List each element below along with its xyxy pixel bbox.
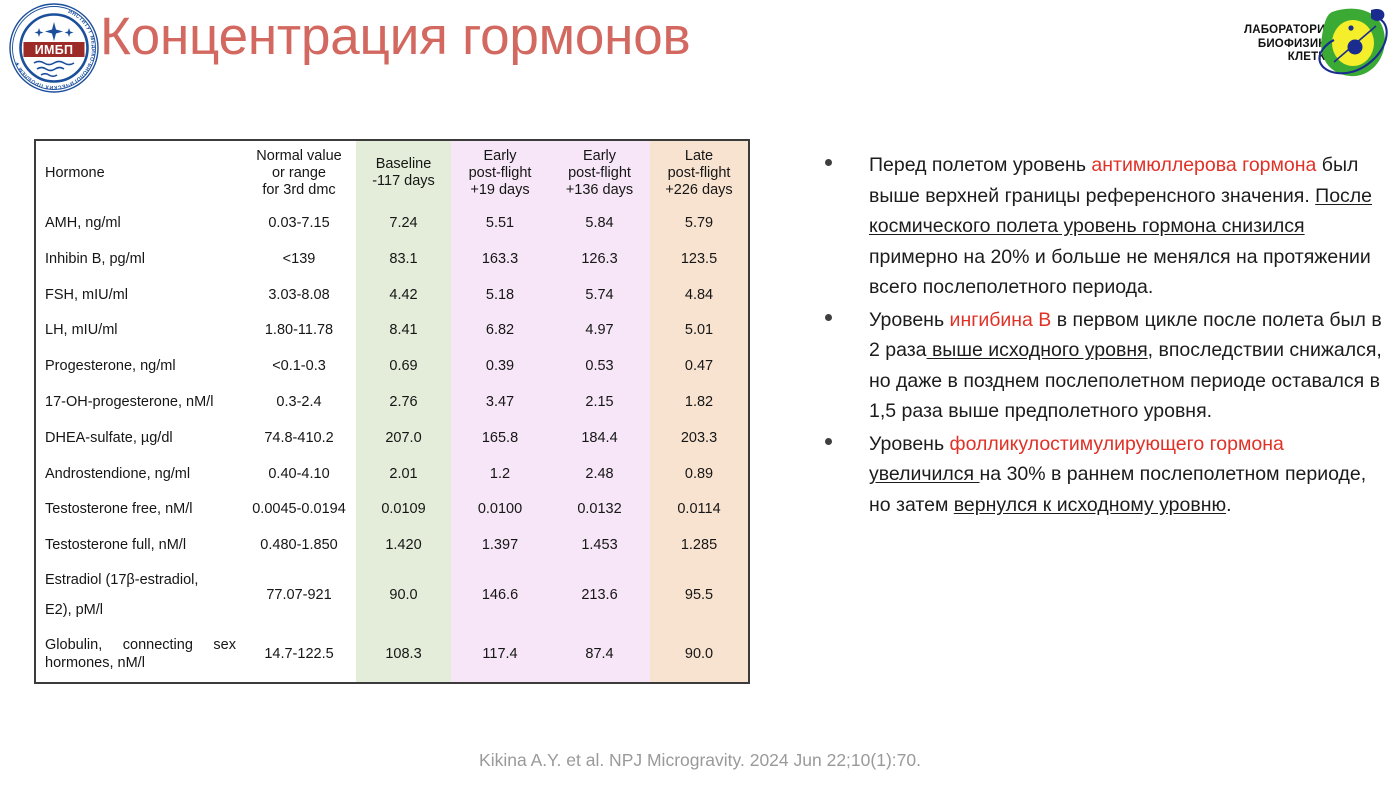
- hormone-name-line1: Estradiol (17β-estradiol,: [45, 565, 236, 595]
- cell-late-226: 123.5: [650, 241, 748, 277]
- bullet-text-segment: антимюллерова гормона: [1091, 154, 1316, 176]
- table-row: Inhibin B, pg/ml<13983.1163.3126.3123.5: [36, 241, 748, 277]
- hormone-name-label: Inhibin B, pg/ml: [45, 251, 145, 267]
- hormone-name-label: 17-OH-progesterone, nM/l: [45, 394, 213, 410]
- cell-early-19: 3.47: [451, 384, 549, 420]
- bullet-text-segment: увеличился: [869, 463, 980, 485]
- cell-early-136: 87.4: [549, 627, 650, 682]
- cell-normal-value: 14.7-122.5: [242, 627, 356, 682]
- hormone-name-label: FSH, mIU/ml: [45, 287, 128, 303]
- cell-hormone-name: FSH, mIU/ml: [36, 277, 242, 313]
- cell-late-226: 0.89: [650, 456, 748, 492]
- hormone-name-label: Testosterone full, nM/l: [45, 537, 186, 553]
- bullet-item: Перед полетом уровень антимюллерова горм…: [812, 150, 1390, 303]
- cell-baseline: 2.01: [356, 456, 451, 492]
- cell-baseline: 7.24: [356, 205, 451, 241]
- cell-early-19: 5.51: [451, 205, 549, 241]
- bullet-item: Уровень ингибина В в первом цикле после …: [812, 305, 1390, 427]
- cell-late-226: 0.0114: [650, 492, 748, 528]
- cell-late-226: 5.79: [650, 205, 748, 241]
- cell-early-19: 1.2: [451, 456, 549, 492]
- table-row: DHEA-sulfate, µg/dl74.8-410.2207.0165.81…: [36, 420, 748, 456]
- table-row: 17-OH-progesterone, nM/l0.3-2.42.763.472…: [36, 384, 748, 420]
- lab-biophysics-logo: ЛАБОРАТОРИЯ БИОФИЗИКИ КЛЕТКИ: [1242, 4, 1392, 84]
- cell-early-136: 213.6: [549, 563, 650, 626]
- hormone-name-label: AMH, ng/ml: [45, 215, 121, 231]
- cell-hormone-name: 17-OH-progesterone, nM/l: [36, 384, 242, 420]
- cell-baseline: 108.3: [356, 627, 451, 682]
- bullet-text-segment: ингибина В: [950, 309, 1052, 331]
- bullet-item: Уровень фолликулостимулирующего гормона …: [812, 429, 1390, 521]
- table-row: Testosterone full, nM/l0.480-1.8501.4201…: [36, 527, 748, 563]
- table-row: Testosterone free, nM/l0.0045-0.01940.01…: [36, 492, 748, 528]
- cell-hormone-name: Estradiol (17β-estradiol,E2), pM/l: [36, 563, 242, 626]
- insights-list: Перед полетом уровень антимюллерова горм…: [812, 150, 1390, 522]
- cell-late-226: 0.47: [650, 348, 748, 384]
- cell-early-19: 1.397: [451, 527, 549, 563]
- cell-normal-value: 0.3-2.4: [242, 384, 356, 420]
- table-row: Androstendione, ng/ml0.40-4.102.011.22.4…: [36, 456, 748, 492]
- cell-early-136: 5.74: [549, 277, 650, 313]
- cell-normal-value: <0.1-0.3: [242, 348, 356, 384]
- cell-early-136: 184.4: [549, 420, 650, 456]
- cell-baseline: 90.0: [356, 563, 451, 626]
- hormone-name-label: Androstendione, ng/ml: [45, 466, 190, 482]
- slide-header: ИМБП ИНСТИТУТ МЕДИКО-БИОЛОГИЧЕСКИХ ПРОБЛ…: [0, 0, 1400, 100]
- cell-baseline: 1.420: [356, 527, 451, 563]
- cell-late-226: 90.0: [650, 627, 748, 682]
- cell-hormone-name: Globulin, connecting sex hormones, nM/l: [36, 627, 242, 682]
- cell-hormone-name: Testosterone full, nM/l: [36, 527, 242, 563]
- col-header-late-226: Late post-flight +226 days: [650, 141, 748, 205]
- bullet-text-segment: Уровень: [869, 309, 950, 331]
- cell-baseline: 8.41: [356, 312, 451, 348]
- cell-late-226: 4.84: [650, 277, 748, 313]
- bullet-text-segment: Перед полетом уровень: [869, 154, 1091, 176]
- bullet-text-segment: фолликулостимулирующего гормона: [950, 433, 1284, 455]
- cell-late-226: 5.01: [650, 312, 748, 348]
- cell-hormone-name: Progesterone, ng/ml: [36, 348, 242, 384]
- cell-baseline: 2.76: [356, 384, 451, 420]
- cell-hormone-name: Inhibin B, pg/ml: [36, 241, 242, 277]
- table-row: AMH, ng/ml0.03-7.157.245.515.845.79: [36, 205, 748, 241]
- cell-early-136: 126.3: [549, 241, 650, 277]
- cell-early-19: 163.3: [451, 241, 549, 277]
- hormone-name-label: Testosterone free, nM/l: [45, 501, 193, 517]
- cell-early-19: 117.4: [451, 627, 549, 682]
- col-header-hormone: Hormone: [36, 141, 242, 205]
- bullet-text-segment: выше исходного уровня: [927, 339, 1148, 361]
- cell-normal-value: 74.8-410.2: [242, 420, 356, 456]
- cell-late-226: 1.285: [650, 527, 748, 563]
- cell-early-19: 165.8: [451, 420, 549, 456]
- hormone-concentration-table: Hormone Normal value or range for 3rd dm…: [34, 139, 750, 684]
- col-header-early-136: Early post-flight +136 days: [549, 141, 650, 205]
- cell-normal-value: 3.03-8.08: [242, 277, 356, 313]
- cell-early-19: 0.39: [451, 348, 549, 384]
- cell-late-226: 1.82: [650, 384, 748, 420]
- cell-icon: [1314, 4, 1392, 82]
- cell-normal-value: 0.40-4.10: [242, 456, 356, 492]
- cell-early-19: 146.6: [451, 563, 549, 626]
- hormone-name-label: DHEA-sulfate, µg/dl: [45, 430, 173, 446]
- cell-early-136: 5.84: [549, 205, 650, 241]
- bullet-text-segment: вернулся к исходному уровню: [954, 494, 1226, 516]
- cell-baseline: 4.42: [356, 277, 451, 313]
- cell-late-226: 95.5: [650, 563, 748, 626]
- bullet-text-segment: .: [1226, 494, 1231, 516]
- cell-early-136: 2.15: [549, 384, 650, 420]
- page-title: Концентрация гормонов: [100, 4, 690, 70]
- bullet-text: Перед полетом уровень антимюллерова горм…: [869, 150, 1390, 303]
- col-header-early-19: Early post-flight +19 days: [451, 141, 549, 205]
- cell-normal-value: 0.480-1.850: [242, 527, 356, 563]
- cell-early-19: 0.0100: [451, 492, 549, 528]
- cell-normal-value: 0.0045-0.0194: [242, 492, 356, 528]
- cell-normal-value: 1.80-11.78: [242, 312, 356, 348]
- col-header-normal-value: Normal value or range for 3rd dmc: [242, 141, 356, 205]
- cell-early-136: 2.48: [549, 456, 650, 492]
- imbp-logo: ИМБП ИНСТИТУТ МЕДИКО-БИОЛОГИЧЕСКИХ ПРОБЛ…: [8, 2, 100, 94]
- cell-baseline: 207.0: [356, 420, 451, 456]
- cell-hormone-name: AMH, ng/ml: [36, 205, 242, 241]
- cell-baseline: 0.0109: [356, 492, 451, 528]
- cell-early-136: 4.97: [549, 312, 650, 348]
- cell-baseline: 0.69: [356, 348, 451, 384]
- cell-early-19: 5.18: [451, 277, 549, 313]
- bullet-text: Уровень ингибина В в первом цикле после …: [869, 305, 1390, 427]
- bullet-dot-icon: [812, 305, 869, 321]
- cell-late-226: 203.3: [650, 420, 748, 456]
- hormone-name-label: LH, mIU/ml: [45, 322, 118, 338]
- bullet-text-segment: примерно на 20% и больше не менялся на п…: [869, 246, 1371, 299]
- hormone-table: Hormone Normal value or range for 3rd dm…: [36, 141, 748, 682]
- cell-early-136: 0.53: [549, 348, 650, 384]
- table-row: Globulin, connecting sex hormones, nM/l1…: [36, 627, 748, 682]
- table-row: FSH, mIU/ml3.03-8.084.425.185.744.84: [36, 277, 748, 313]
- cell-hormone-name: Testosterone free, nM/l: [36, 492, 242, 528]
- table-head: Hormone Normal value or range for 3rd dm…: [36, 141, 748, 205]
- table-body: AMH, ng/ml0.03-7.157.245.515.845.79Inhib…: [36, 205, 748, 682]
- cell-hormone-name: Androstendione, ng/ml: [36, 456, 242, 492]
- cell-normal-value: 77.07-921: [242, 563, 356, 626]
- bullet-text-segment: Уровень: [869, 433, 950, 455]
- cell-early-136: 1.453: [549, 527, 650, 563]
- table-header-row: Hormone Normal value or range for 3rd dm…: [36, 141, 748, 205]
- table-row: LH, mIU/ml1.80-11.788.416.824.975.01: [36, 312, 748, 348]
- hormone-name-label: Progesterone, ng/ml: [45, 358, 176, 374]
- cell-early-19: 6.82: [451, 312, 549, 348]
- hormone-name-label: Globulin, connecting sex hormones, nM/l: [45, 636, 236, 672]
- hormone-name-line2: E2), pM/l: [45, 595, 236, 625]
- cell-hormone-name: LH, mIU/ml: [36, 312, 242, 348]
- cell-normal-value: <139: [242, 241, 356, 277]
- col-header-baseline: Baseline -117 days: [356, 141, 451, 205]
- cell-normal-value: 0.03-7.15: [242, 205, 356, 241]
- table-row: Progesterone, ng/ml<0.1-0.30.690.390.530…: [36, 348, 748, 384]
- bullet-text: Уровень фолликулостимулирующего гормона …: [869, 429, 1390, 521]
- bullet-dot-icon: [812, 429, 869, 445]
- cell-early-136: 0.0132: [549, 492, 650, 528]
- cell-hormone-name: DHEA-sulfate, µg/dl: [36, 420, 242, 456]
- svg-text:ИМБП: ИМБП: [35, 43, 74, 57]
- bullet-dot-icon: [812, 150, 869, 166]
- table-row: Estradiol (17β-estradiol,E2), pM/l77.07-…: [36, 563, 748, 626]
- citation: Kikina A.Y. et al. NPJ Microgravity. 202…: [0, 750, 1400, 771]
- cell-baseline: 83.1: [356, 241, 451, 277]
